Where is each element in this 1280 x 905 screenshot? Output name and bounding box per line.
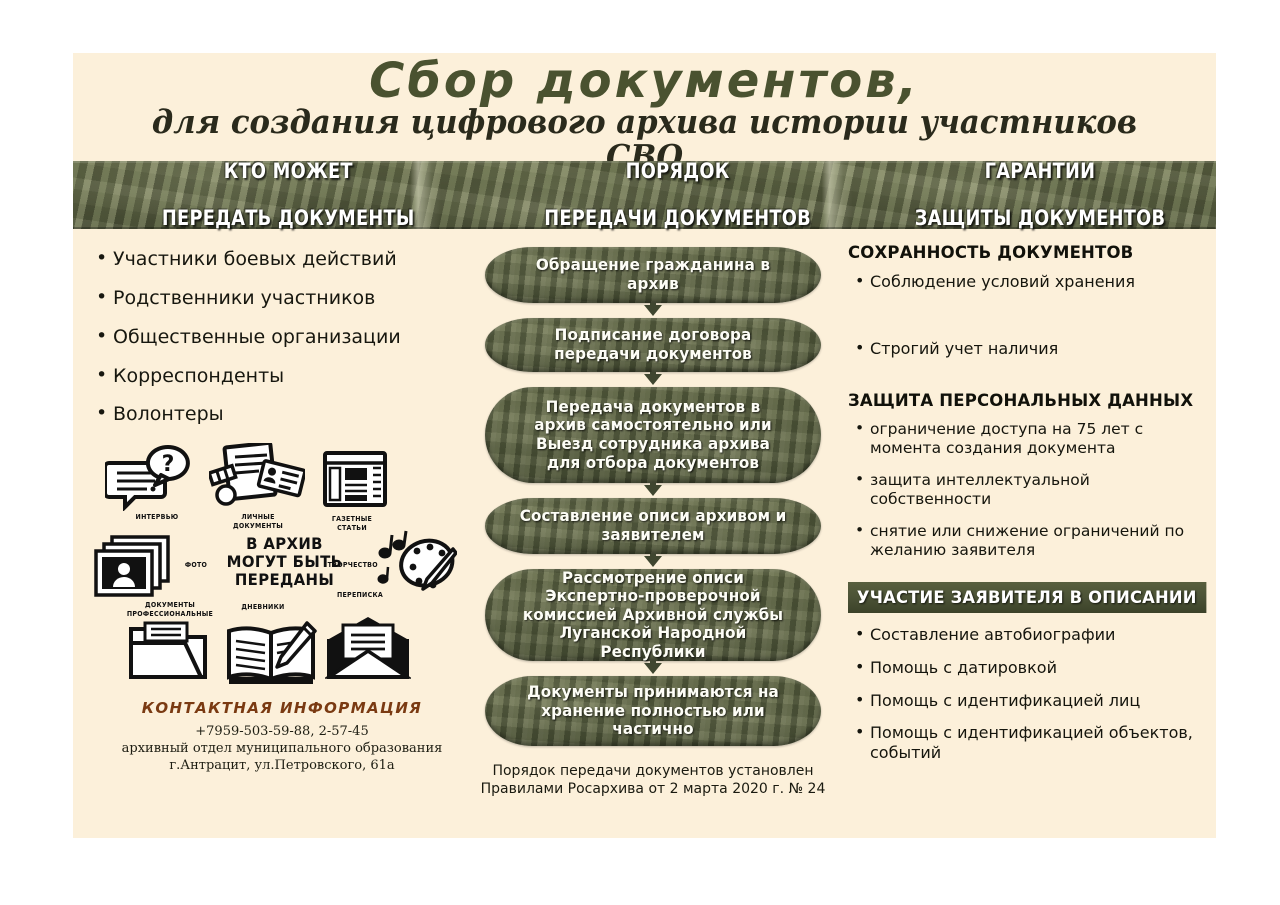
newspaper-icon	[321, 449, 391, 511]
contact-address: г.Антрацит, ул.Петровского, 61а	[87, 758, 477, 775]
list-item: Участники боевых действий	[113, 249, 477, 271]
flow-step: Передача документов в архив самостоятель…	[485, 387, 821, 483]
list-item: Соблюдение условий хранения	[870, 272, 1210, 292]
envelope-icon	[325, 615, 411, 681]
professional-documents-icon-label: ДОКУМЕНТЫ ПРОФЕССИОНАЛЬНЫЕ	[121, 601, 220, 619]
list-item: Корреспонденты	[113, 366, 477, 388]
band-col2-line1: ПОРЯДОК	[545, 160, 812, 184]
flow-step: Составление описи архивом и заявителем	[485, 498, 821, 554]
archive-materials-cluster: ? ИНТЕРВЬЮ	[87, 443, 477, 693]
list-item: Родственники участников	[113, 288, 477, 310]
flow-step-label: Составление описи архивом и заявителем	[493, 507, 812, 544]
contact-info: КОНТАКТНАЯ ИНФОРМАЦИЯ +7959-503-59-88, 2…	[87, 699, 477, 775]
flow-step-label: Передача документов в архив самостоятель…	[493, 398, 812, 472]
flow-step-label: Документы принимаются на хранение полнос…	[493, 683, 812, 739]
column-who-can-submit: Участники боевых действий Родственники у…	[87, 243, 477, 828]
list-item: Общественные организации	[113, 327, 477, 349]
flow-step: Документы принимаются на хранение полнос…	[485, 676, 821, 746]
spacer	[848, 305, 1210, 339]
flow-legal-note: Порядок передачи документов установлен П…	[473, 762, 833, 798]
band-col2-line2: ПЕРЕДАЧИ ДОКУМЕНТОВ	[545, 207, 812, 231]
personal-documents-icon	[209, 443, 305, 511]
spacer	[848, 572, 1210, 582]
folder-icon	[127, 619, 209, 683]
list-item: снятие или снижение ограничений по желан…	[870, 522, 1210, 560]
creativity-icon-label: ТВОРЧЕСТВО	[328, 561, 375, 570]
spacer	[848, 371, 1210, 391]
column-document-transfer-flow: Обращение гражданина в архив Подписание …	[473, 243, 833, 828]
flow-step-label: Рассмотрение описи Экспертно-проверочной…	[493, 569, 812, 662]
flow-step: Подписание договора передачи документов	[485, 318, 821, 372]
svg-text:?: ?	[162, 452, 175, 477]
flow-arrow-icon	[644, 556, 662, 567]
section-heading-applicant-participation: УЧАСТИЕ ЗАЯВИТЕЛЯ В ОПИСАНИИ	[848, 582, 1206, 613]
photo-icon	[92, 535, 178, 597]
flow-step-label: Обращение гражданина в архив	[493, 256, 812, 293]
diaries-icon-label: ДНЕВНИКИ	[236, 603, 290, 612]
band-col3-line1: ГАРАНТИИ	[914, 160, 1165, 184]
interview-icon-label: ИНТЕРВЬЮ	[128, 513, 186, 522]
flow-arrow-icon	[644, 663, 662, 674]
interview-icon: ?	[105, 445, 191, 511]
band-col1-line2: ПЕРЕДАТЬ ДОКУМЕНТЫ	[162, 207, 415, 231]
band-col3-line2: ЗАЩИТЫ ДОКУМЕНТОВ	[914, 207, 1165, 231]
section-heading-personal-data: ЗАЩИТА ПЕРСОНАЛЬНЫХ ДАННЫХ	[848, 391, 1199, 411]
flow-step-label: Подписание договора передачи документов	[493, 326, 812, 363]
contact-phone: +7959-503-59-88, 2-57-45	[87, 724, 477, 741]
title-zone: Сбор документов, для создания цифрового …	[73, 53, 1216, 158]
list-item: защита интеллектуальной собственности	[870, 471, 1210, 509]
section-header-band: КТО МОЖЕТПЕРЕДАТЬ ДОКУМЕНТЫ ПОРЯДОКПЕРЕД…	[73, 161, 1216, 229]
list-item: Помощь с датировкой	[870, 658, 1210, 678]
correspondence-icon-label: ПЕРЕПИСКА	[332, 591, 388, 600]
list-item: Составление автобиографии	[870, 625, 1210, 645]
list-item: ограничение доступа на 75 лет с момента …	[870, 420, 1210, 458]
photo-icon-label: ФОТО	[183, 561, 210, 570]
book-icon	[225, 621, 319, 687]
section-heading-preservation: СОХРАННОСТЬ ДОКУМЕНТОВ	[848, 243, 1199, 263]
band-col1-line1: КТО МОЖЕТ	[162, 160, 415, 184]
list-item: Помощь с идентификацией объектов, событи…	[870, 723, 1210, 762]
contact-heading: КОНТАКТНАЯ ИНФОРМАЦИЯ	[87, 699, 477, 717]
personal-documents-icon-label: ЛИЧНЫЕ ДОКУМЕНТЫ	[230, 513, 286, 531]
poster-page: Сбор документов, для создания цифрового …	[0, 0, 1280, 905]
contact-organization: архивный отдел муниципального образовани…	[87, 741, 477, 758]
band-column-procedure: ПОРЯДОКПЕРЕДАЧИ ДОКУМЕНТОВ	[493, 161, 863, 229]
list-item: Волонтеры	[113, 404, 477, 426]
list-item: Строгий учет наличия	[870, 339, 1210, 359]
list-item: Помощь с идентификацией лиц	[870, 691, 1210, 711]
page-title: Сбор документов,	[73, 57, 1216, 105]
flow-step: Обращение гражданина в архив	[485, 247, 821, 303]
band-column-who: КТО МОЖЕТПЕРЕДАТЬ ДОКУМЕНТЫ	[93, 161, 483, 229]
flow-step: Рассмотрение описи Экспертно-проверочной…	[485, 569, 821, 661]
flow-arrow-icon	[644, 305, 662, 316]
flow-arrow-icon	[644, 485, 662, 496]
poster-sheet: Сбор документов, для создания цифрового …	[73, 53, 1216, 838]
band-column-guarantees: ГАРАНТИИЗАЩИТЫ ДОКУМЕНТОВ	[873, 161, 1206, 229]
column-document-protection: СОХРАННОСТЬ ДОКУМЕНТОВ Соблюдение услови…	[848, 243, 1210, 828]
flow-arrow-icon	[644, 374, 662, 385]
